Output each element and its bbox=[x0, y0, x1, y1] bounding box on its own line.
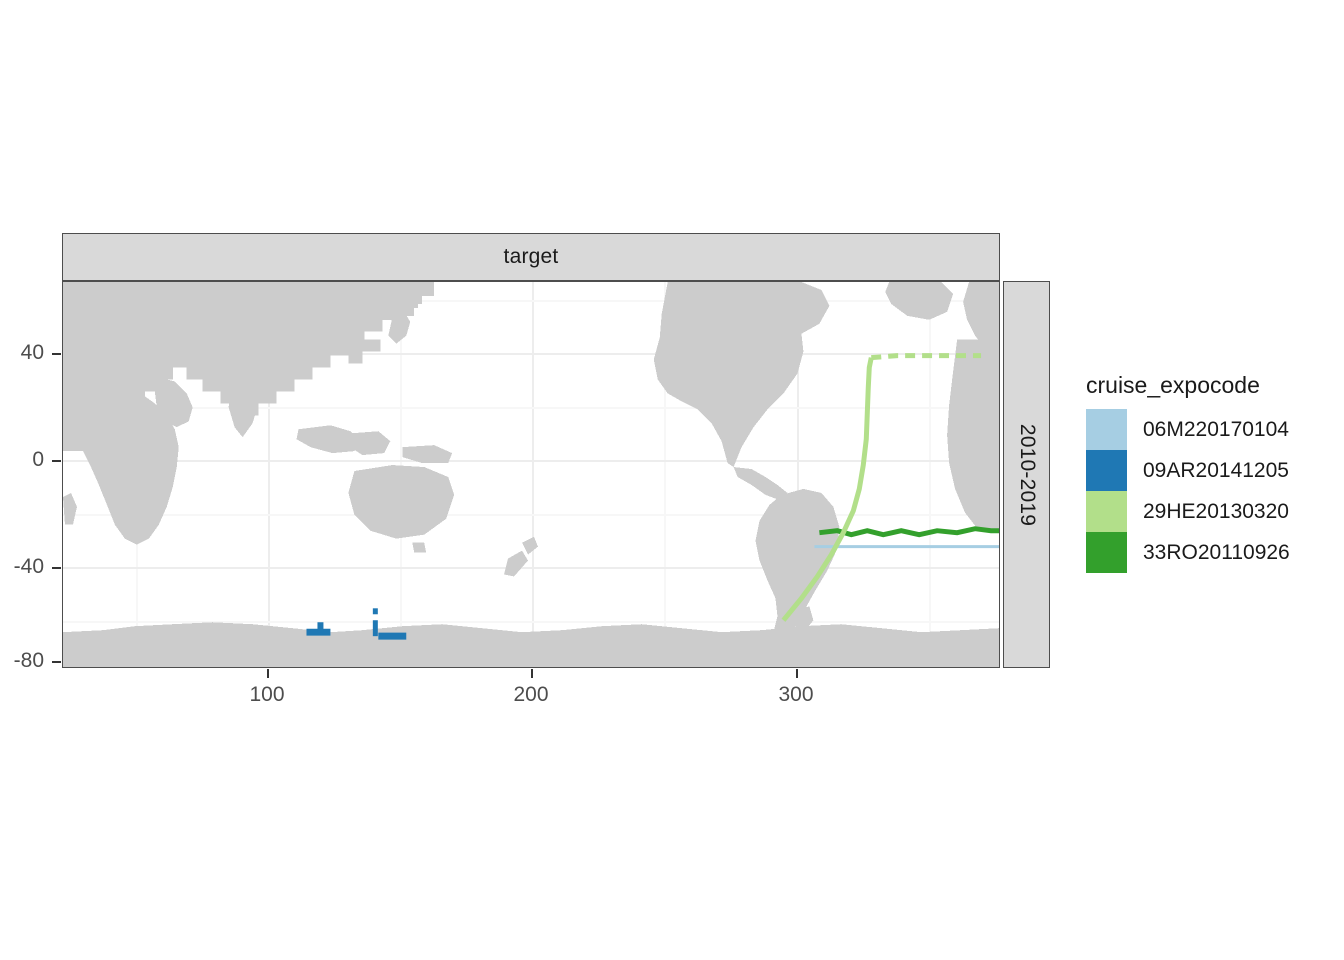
x-tick-label: 100 bbox=[227, 683, 307, 707]
facet-strip-row: 2010-2019 bbox=[1003, 281, 1050, 668]
legend-swatch-29HE20130320 bbox=[1086, 491, 1127, 532]
map-panel-inner bbox=[63, 282, 999, 667]
cruise-track-29HE20130320-zonal bbox=[871, 356, 981, 358]
facet-strip-column-label: target bbox=[504, 245, 559, 269]
y-tick-mark bbox=[52, 567, 61, 569]
x-tick-mark bbox=[267, 669, 269, 678]
map-figure: target 2010-2019 bbox=[0, 0, 1344, 960]
cruise-track-layer bbox=[63, 282, 999, 667]
legend-swatch-09AR20141205 bbox=[1086, 450, 1127, 491]
y-tick-mark bbox=[52, 661, 61, 663]
cruise-track-29HE20130320 bbox=[783, 358, 871, 621]
x-tick-mark bbox=[796, 669, 798, 678]
legend-label: 09AR20141205 bbox=[1143, 459, 1289, 483]
x-tick-mark bbox=[531, 669, 533, 678]
y-tick-label: 40 bbox=[0, 341, 44, 365]
x-tick-label: 200 bbox=[491, 683, 571, 707]
facet-strip-row-label: 2010-2019 bbox=[1015, 423, 1039, 525]
legend-title: cruise_expocode bbox=[1086, 372, 1290, 399]
legend-swatch-33RO20110926 bbox=[1086, 532, 1127, 573]
legend-item[interactable]: 09AR20141205 bbox=[1086, 450, 1290, 491]
legend-label: 29HE20130320 bbox=[1143, 500, 1289, 524]
x-tick-label: 300 bbox=[756, 683, 836, 707]
y-tick-mark bbox=[52, 460, 61, 462]
facet-strip-column: target bbox=[62, 233, 1000, 281]
y-tick-label: -80 bbox=[0, 649, 44, 673]
legend-label: 06M220170104 bbox=[1143, 418, 1289, 442]
y-tick-label: -40 bbox=[0, 555, 44, 579]
legend: cruise_expocode 06M220170104 09AR2014120… bbox=[1086, 372, 1290, 573]
legend-label: 33RO20110926 bbox=[1143, 541, 1290, 565]
legend-swatch-06M220170104 bbox=[1086, 409, 1127, 450]
map-panel bbox=[62, 281, 1000, 668]
legend-item[interactable]: 33RO20110926 bbox=[1086, 532, 1290, 573]
legend-item[interactable]: 29HE20130320 bbox=[1086, 491, 1290, 532]
y-tick-mark bbox=[52, 353, 61, 355]
legend-item[interactable]: 06M220170104 bbox=[1086, 409, 1290, 450]
y-tick-label: 0 bbox=[0, 448, 44, 472]
